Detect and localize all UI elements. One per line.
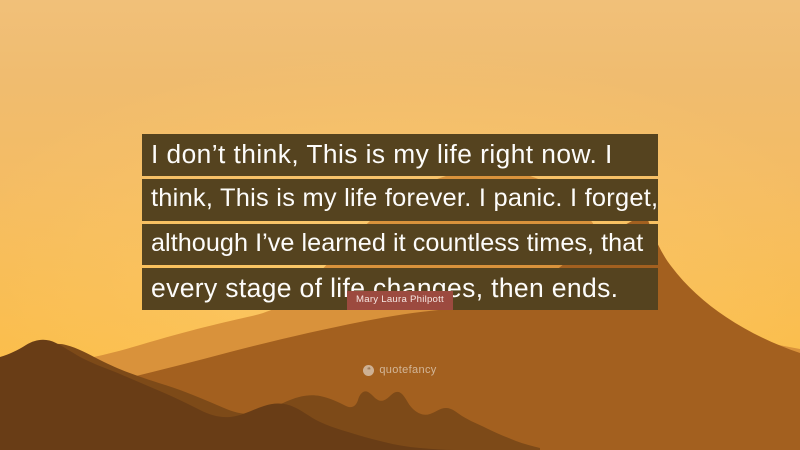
author-name: Mary Laura Philpott [347, 291, 453, 310]
quote-poster: I don’t think, This is my life right now… [0, 0, 800, 450]
watermark-brand: quotefancy [379, 365, 436, 376]
watermark: ❝ quotefancy [0, 365, 800, 376]
author-attribution: Mary Laura Philpott [0, 291, 800, 310]
quote-line: although I’ve learned it countless times… [142, 224, 658, 265]
quote-line: I don’t think, This is my life right now… [142, 134, 658, 176]
quote-text-block: I don’t think, This is my life right now… [0, 134, 800, 310]
quote-line: think, This is my life forever. I panic.… [142, 179, 658, 220]
quote-mark-icon: ❝ [363, 365, 374, 376]
